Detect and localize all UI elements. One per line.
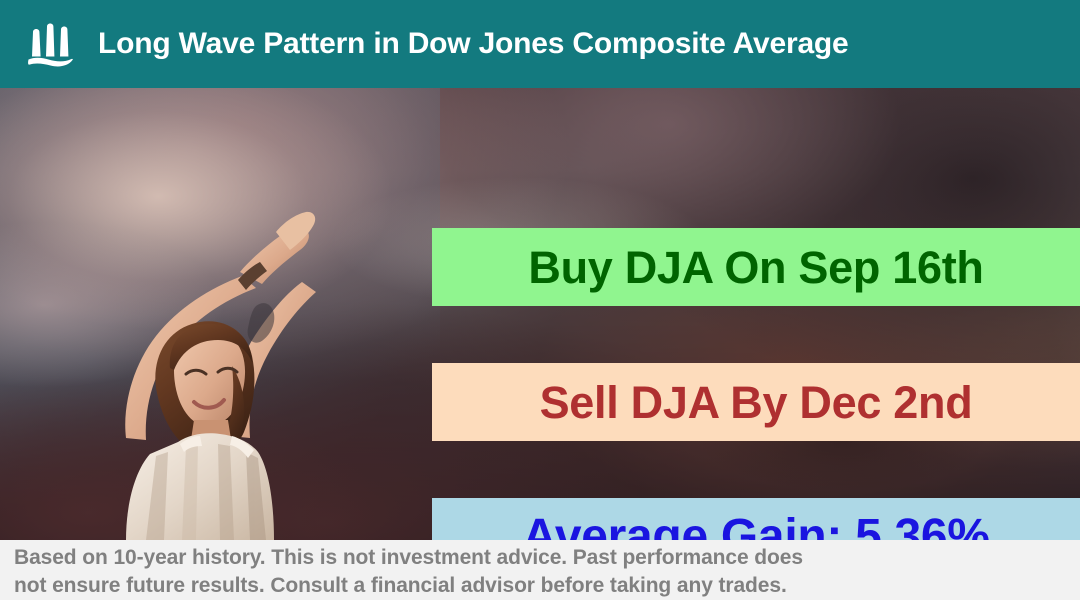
callout-sell-label: Sell DJA By Dec 2nd: [540, 380, 973, 425]
background-photo: Buy DJA On Sep 16th Sell DJA By Dec 2nd …: [0, 88, 1080, 540]
callout-gain-label: Average Gain: 5.36%: [522, 513, 989, 540]
callout-buy-signal: Buy DJA On Sep 16th: [432, 228, 1080, 306]
disclaimer-line-2: not ensure future results. Consult a fin…: [14, 572, 1066, 600]
page-title: Long Wave Pattern in Dow Jones Composite…: [98, 27, 849, 61]
callout-buy-label: Buy DJA On Sep 16th: [528, 245, 983, 290]
three-bars-wave-logo-icon: [26, 18, 78, 70]
disclaimer-bar: Based on 10-year history. This is not in…: [0, 540, 1080, 600]
woman-figure: [60, 188, 390, 540]
app-header: Long Wave Pattern in Dow Jones Composite…: [0, 0, 1080, 88]
disclaimer-line-1: Based on 10-year history. This is not in…: [14, 544, 1066, 572]
callout-sell-signal: Sell DJA By Dec 2nd: [432, 363, 1080, 441]
callout-average-gain: Average Gain: 5.36%: [432, 498, 1080, 540]
